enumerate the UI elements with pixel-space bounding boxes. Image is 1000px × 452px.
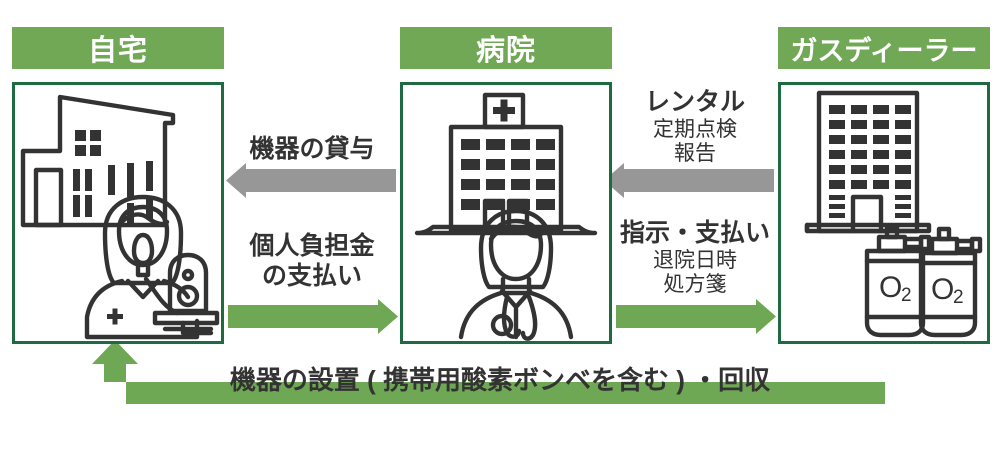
flow-label-line: 報告 bbox=[616, 142, 774, 167]
arrow-copayment bbox=[228, 299, 398, 334]
arrow-instruction-payment bbox=[616, 299, 776, 334]
window-panes-upper bbox=[75, 130, 101, 156]
patient-with-oxygen-mask bbox=[87, 197, 197, 337]
flow-label-copayment: 個人負担金 の支払い bbox=[228, 232, 396, 291]
flow-label-line: 処方箋 bbox=[606, 273, 784, 298]
flow-label-line: 指示・支払い bbox=[606, 219, 784, 249]
node-box-dealer: O 2 O 2 bbox=[778, 82, 990, 344]
flow-label-equipment-lending: 機器の貸与 bbox=[228, 135, 396, 165]
relationship-diagram: 自宅 病院 ガスディーラー bbox=[0, 0, 1000, 452]
office-windows bbox=[829, 105, 911, 218]
office-building-with-o2-cylinders-icon: O 2 O 2 bbox=[781, 85, 987, 341]
node-header-hospital: 病院 bbox=[400, 27, 612, 69]
o2-label-front: O bbox=[879, 271, 902, 304]
o2-subscript-back: 2 bbox=[953, 287, 964, 308]
hospital-cross-icon bbox=[493, 100, 515, 122]
flow-label-line: 機器の貸与 bbox=[228, 135, 396, 165]
node-header-home: 自宅 bbox=[12, 27, 224, 69]
flow-label-line: 定期点検 bbox=[616, 118, 774, 143]
arrow-rental-inspection-report bbox=[604, 163, 774, 198]
node-box-home bbox=[12, 82, 224, 344]
house-with-patient-oxygen-icon bbox=[15, 85, 221, 341]
flow-label-line: 退院日時 bbox=[606, 249, 784, 274]
medical-plus-icon bbox=[107, 309, 123, 325]
flow-label-install-and-collect: 機器の設置 ( 携帯用酸素ボンベを含む ) ・回収 bbox=[160, 360, 840, 397]
hospital-building-with-doctor-icon bbox=[403, 85, 609, 341]
o2-label-back: O bbox=[931, 273, 954, 306]
node-header-dealer-label: ガスディーラー bbox=[790, 29, 977, 68]
arrow-equipment-lending bbox=[226, 163, 396, 198]
node-header-dealer: ガスディーラー bbox=[778, 27, 990, 69]
node-header-home-label: 自宅 bbox=[88, 27, 148, 69]
node-header-hospital-label: 病院 bbox=[476, 27, 536, 69]
flow-label-line: の支払い bbox=[228, 262, 396, 292]
flow-label-rental-inspection-report: レンタル 定期点検 報告 bbox=[616, 88, 774, 167]
flow-label-line: 機器の設置 ( 携帯用酸素ボンベを含む ) ・回収 bbox=[230, 365, 770, 395]
flow-label-line: 個人負担金 bbox=[228, 232, 396, 262]
o2-subscript-front: 2 bbox=[901, 285, 912, 306]
flow-label-instruction-payment: 指示・支払い 退院日時 処方箋 bbox=[606, 219, 784, 298]
flow-label-line: レンタル bbox=[616, 88, 774, 118]
node-box-hospital bbox=[400, 82, 612, 344]
